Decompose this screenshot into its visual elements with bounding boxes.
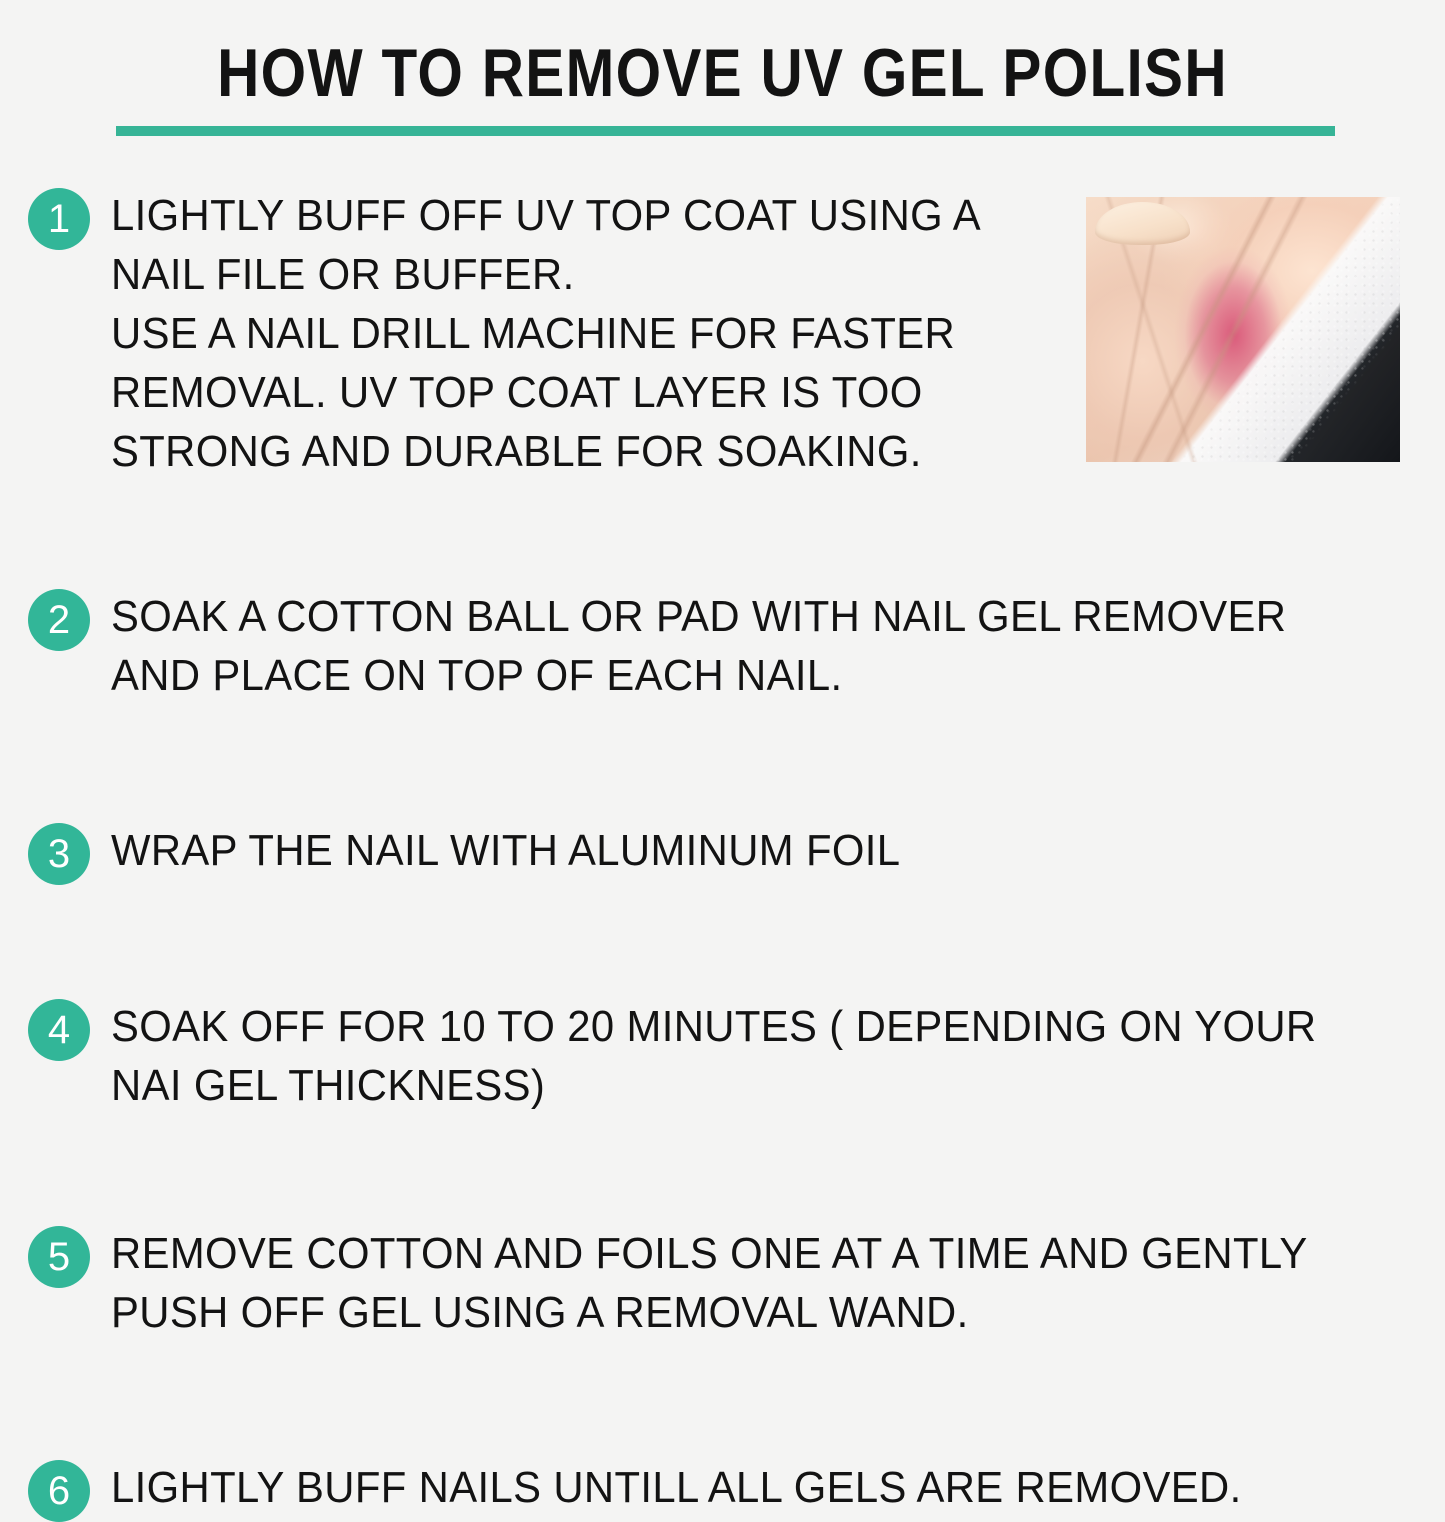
step-body-6: LIGHTLY BUFF NAILS UNTILL ALL GELS ARE R… — [90, 1458, 1445, 1517]
page-title: HOW TO REMOVE UV GEL POLISH — [101, 34, 1344, 112]
step-text-6: LIGHTLY BUFF NAILS UNTILL ALL GELS ARE R… — [111, 1458, 1359, 1517]
photo-nail-file-texture — [1086, 197, 1400, 462]
step-body-3: WRAP THE NAIL WITH ALUMINUM FOIL — [90, 821, 1445, 880]
step-number-badge-3: 3 — [28, 823, 90, 885]
step-body-2: SOAK A COTTON BALL OR PAD WITH NAIL GEL … — [90, 587, 1445, 705]
step-number-badge-1: 1 — [28, 188, 90, 250]
step-number-badge-4: 4 — [28, 999, 90, 1061]
title-block: HOW TO REMOVE UV GEL POLISH — [0, 34, 1445, 112]
step-number-badge-5: 5 — [28, 1226, 90, 1288]
step-text-3: WRAP THE NAIL WITH ALUMINUM FOIL — [111, 821, 1359, 880]
infographic-poster: HOW TO REMOVE UV GEL POLISH 1 LIGHTLY BU… — [0, 0, 1445, 1445]
step-body-5: REMOVE COTTON AND FOILS ONE AT A TIME AN… — [90, 1224, 1445, 1342]
step-item-6: 6 LIGHTLY BUFF NAILS UNTILL ALL GELS ARE… — [0, 1458, 1445, 1522]
step-text-5: REMOVE COTTON AND FOILS ONE AT A TIME AN… — [111, 1224, 1359, 1342]
step-text-4: SOAK OFF FOR 10 TO 20 MINUTES ( DEPENDIN… — [111, 997, 1359, 1115]
step-text-1: LIGHTLY BUFF OFF UV TOP COAT USING A NAI… — [111, 186, 1008, 481]
step-number-badge-2: 2 — [28, 589, 90, 651]
title-divider-rule — [116, 126, 1335, 136]
step-text-2: SOAK A COTTON BALL OR PAD WITH NAIL GEL … — [111, 587, 1359, 705]
step-number-badge-6: 6 — [28, 1460, 90, 1522]
step-item-3: 3 WRAP THE NAIL WITH ALUMINUM FOIL — [0, 821, 1445, 885]
step-body-4: SOAK OFF FOR 10 TO 20 MINUTES ( DEPENDIN… — [90, 997, 1445, 1115]
step-item-4: 4 SOAK OFF FOR 10 TO 20 MINUTES ( DEPEND… — [0, 997, 1445, 1115]
nail-buffing-photo — [1086, 197, 1400, 462]
step-item-5: 5 REMOVE COTTON AND FOILS ONE AT A TIME … — [0, 1224, 1445, 1342]
step-item-2: 2 SOAK A COTTON BALL OR PAD WITH NAIL GE… — [0, 587, 1445, 705]
